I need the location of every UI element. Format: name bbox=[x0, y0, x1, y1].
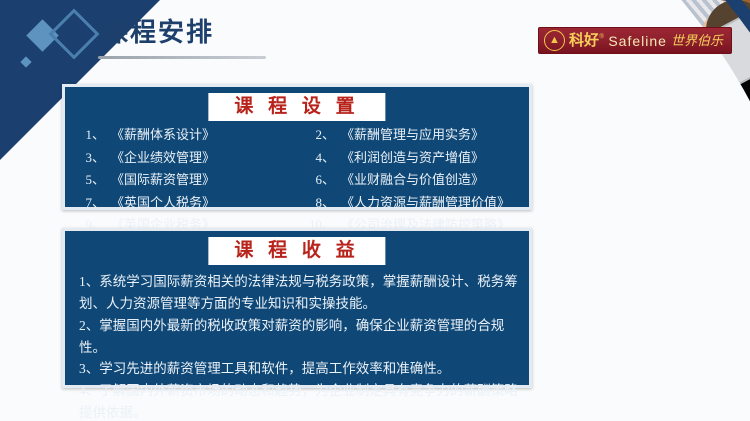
course-item: 7、《英国个人税务》 bbox=[75, 193, 297, 213]
logo-chinese-name: 科好® bbox=[569, 32, 604, 50]
presentation-slide: 课程安排 ▲ 科好® Safeline 世界伯乐 课 程 设 置 1、《薪酬体系… bbox=[0, 0, 750, 421]
benefit-paragraph: 2、掌握国内外最新的税收政策对薪资的影响，确保企业薪资管理的合规性。 bbox=[79, 315, 519, 359]
course-number: 7、 bbox=[75, 193, 111, 213]
course-name: 《薪酬管理与应用实务》 bbox=[341, 125, 484, 145]
benefit-paragraph: 1、系统学习国际薪资相关的法律法规与税务政策，掌握薪酬设计、税务筹划、人力资源管… bbox=[79, 271, 519, 315]
benefits-panel: 课 程 收 益 1、系统学习国际薪资相关的法律法规与税务政策，掌握薪酬设计、税务… bbox=[62, 228, 532, 388]
course-name: 《国际薪资管理》 bbox=[111, 170, 215, 190]
seal-icon: ▲ bbox=[544, 30, 565, 51]
course-name: 《业财融合与价值创造》 bbox=[341, 170, 484, 190]
course-item: 6、《业财融合与价值创造》 bbox=[297, 170, 519, 190]
benefits-heading-badge: 课 程 收 益 bbox=[208, 237, 385, 265]
logo-tagline: 世界伯乐 bbox=[671, 34, 723, 47]
courses-heading-badge: 课 程 设 置 bbox=[208, 93, 385, 121]
course-item: 3、《企业绩效管理》 bbox=[75, 148, 297, 168]
course-name: 《利润创造与资产增值》 bbox=[341, 148, 484, 168]
course-name: 《英国个人税务》 bbox=[111, 193, 215, 213]
course-name: 《企业绩效管理》 bbox=[111, 148, 215, 168]
course-item: 1、《薪酬体系设计》 bbox=[75, 125, 297, 145]
courses-panel: 课 程 设 置 1、《薪酬体系设计》2、《薪酬管理与应用实务》3、《企业绩效管理… bbox=[62, 84, 532, 210]
benefit-paragraph: 4、了解国内外薪资市场的动态和趋势，为企业制定具有竞争力的薪酬策略提供依据。 bbox=[79, 380, 519, 421]
course-item: 2、《薪酬管理与应用实务》 bbox=[297, 125, 519, 145]
logo-english-name: Safeline bbox=[608, 34, 667, 48]
course-number: 2、 bbox=[297, 125, 341, 145]
course-number: 6、 bbox=[297, 170, 341, 190]
course-number: 3、 bbox=[75, 148, 111, 168]
course-number: 1、 bbox=[75, 125, 111, 145]
courses-heading-text: 课 程 设 置 bbox=[234, 96, 359, 117]
course-number: 4、 bbox=[297, 148, 341, 168]
course-number: 8、 bbox=[297, 193, 341, 213]
course-item: 5、《国际薪资管理》 bbox=[75, 170, 297, 190]
course-item: 8、《人力资源与薪酬管理价值》 bbox=[297, 193, 519, 213]
page-title: 课程安排 bbox=[102, 20, 214, 46]
course-name: 《薪酬体系设计》 bbox=[111, 125, 215, 145]
benefits-heading-text: 课 程 收 益 bbox=[234, 240, 359, 261]
course-name: 《人力资源与薪酬管理价值》 bbox=[341, 193, 510, 213]
course-item: 4、《利润创造与资产增值》 bbox=[297, 148, 519, 168]
benefit-paragraph: 3、学习先进的薪资管理工具和软件，提高工作效率和准确性。 bbox=[79, 358, 519, 380]
title-underline bbox=[98, 56, 266, 59]
courses-list: 1、《薪酬体系设计》2、《薪酬管理与应用实务》3、《企业绩效管理》4、《利润创造… bbox=[65, 125, 529, 235]
benefits-text: 1、系统学习国际薪资相关的法律法规与税务政策，掌握薪酬设计、税务筹划、人力资源管… bbox=[79, 271, 519, 421]
course-number: 5、 bbox=[75, 170, 111, 190]
company-logo: ▲ 科好® Safeline 世界伯乐 bbox=[538, 27, 732, 54]
